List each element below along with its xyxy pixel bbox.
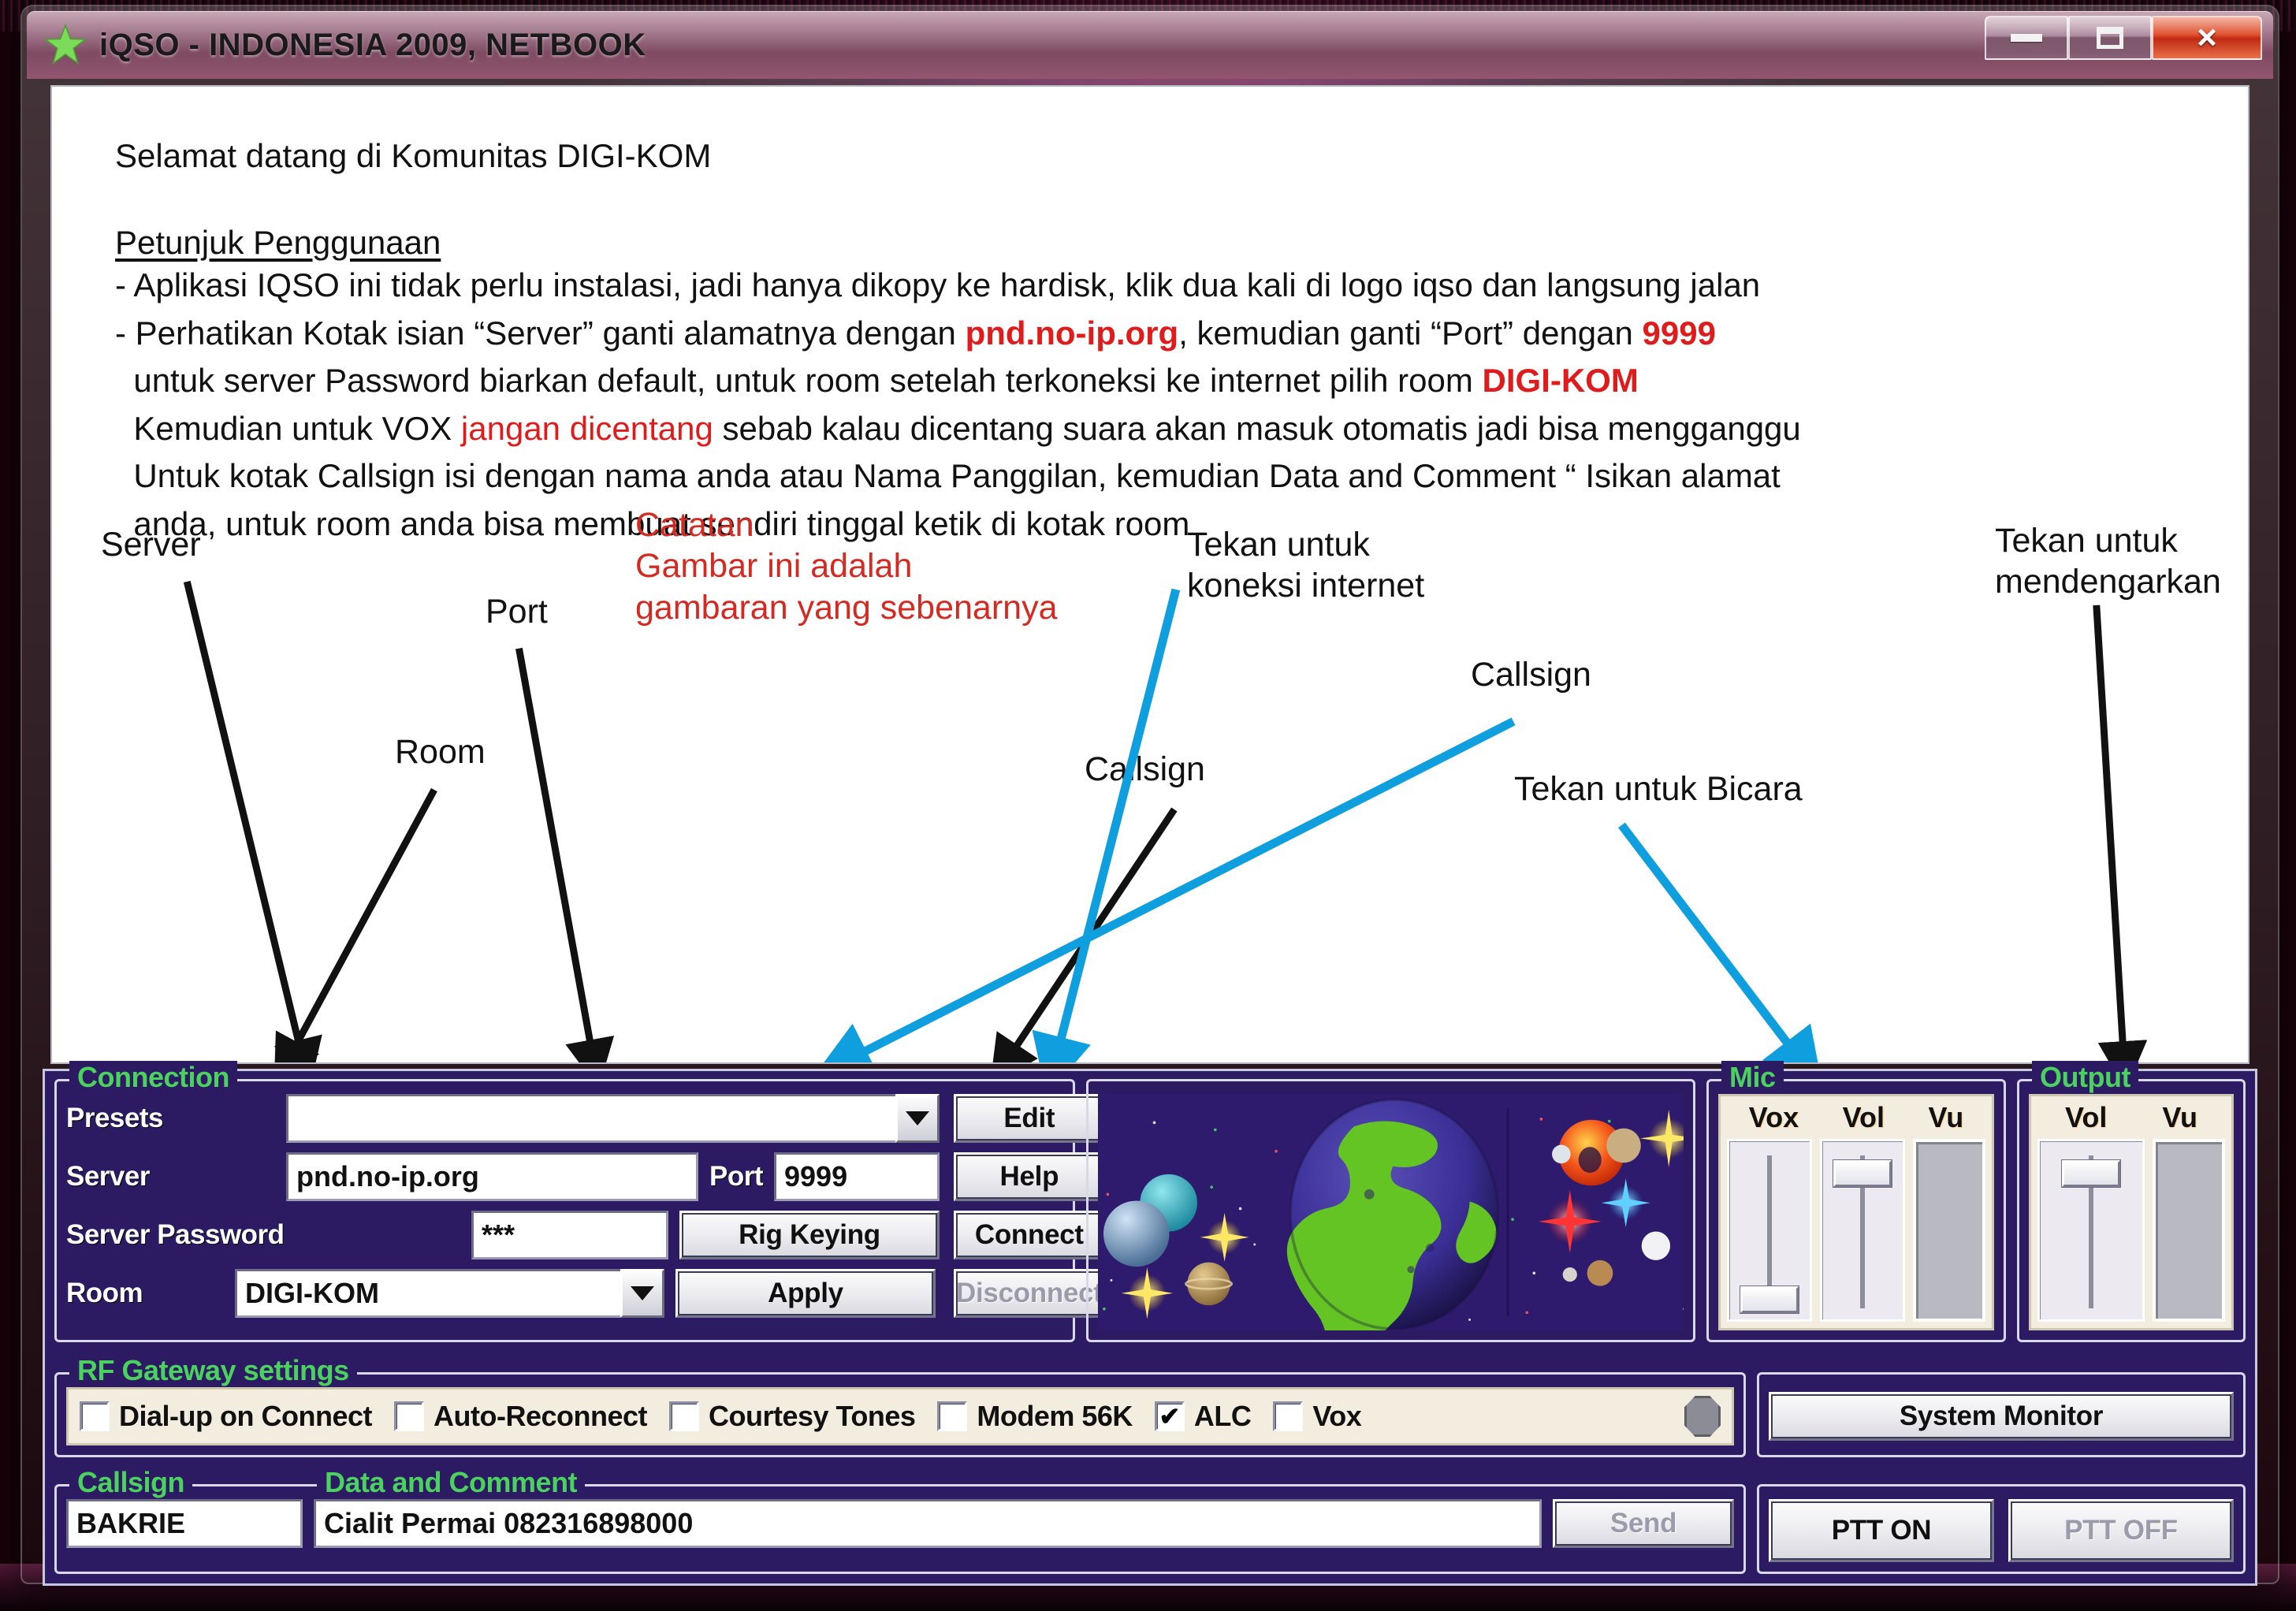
- rf-gateway-checkbar: Dial-up on Connect Auto-Reconnect Courte…: [66, 1387, 1734, 1445]
- app-window: iQSO - INDONESIA 2009, NETBOOK × Selamat…: [22, 6, 2278, 1583]
- close-icon: ×: [2197, 20, 2217, 55]
- bottom-row: Callsign Data and Comment BAKRIE Cialit …: [54, 1484, 2246, 1574]
- arrow-ptt-on: [1621, 825, 1802, 1062]
- edit-button[interactable]: Edit: [954, 1094, 1105, 1143]
- annotation-ptt-off: Tekan untuk mendengarkan: [1995, 520, 2221, 603]
- ptt-off-button[interactable]: PTT OFF: [2008, 1499, 2234, 1562]
- callsign-input[interactable]: BAKRIE: [66, 1499, 303, 1548]
- line2-port-highlight: 9999: [1643, 314, 1716, 352]
- mic-vox-slider[interactable]: [1727, 1139, 1812, 1322]
- checkbox-label: Vox: [1312, 1400, 1361, 1433]
- rig-keying-button[interactable]: Rig Keying: [679, 1211, 940, 1259]
- checkbox-label: Courtesy Tones: [709, 1400, 915, 1433]
- output-vol-slider[interactable]: [2037, 1139, 2145, 1322]
- output-vol-label: Vol: [2065, 1101, 2107, 1134]
- window-controls: ×: [1985, 16, 2262, 61]
- space-scene-svg: [1098, 1094, 1684, 1330]
- maximize-button[interactable]: [2068, 16, 2152, 60]
- presets-label: Presets: [66, 1103, 275, 1134]
- data-comment-input[interactable]: Cialit Permai 082316898000: [314, 1499, 1542, 1548]
- send-button[interactable]: Send: [1553, 1499, 1734, 1548]
- instruction-line-1: - Aplikasi IQSO ini tidak perlu instalas…: [115, 262, 2164, 309]
- rf-gateway-row: RF Gateway settings Dial-up on Connect A…: [54, 1372, 2246, 1457]
- checkbox-label: ALC: [1194, 1400, 1252, 1433]
- instructions-heading: Petunjuk Penggunaan: [115, 224, 2164, 262]
- output-vu-label: Vu: [2162, 1101, 2197, 1134]
- arrow-room: [288, 790, 434, 1061]
- chevron-down-icon[interactable]: [895, 1094, 940, 1143]
- mic-group: Mic Vox Vol Vu: [1706, 1079, 2006, 1342]
- annotation-port: Port: [486, 591, 548, 632]
- mic-vox-slider-thumb[interactable]: [1740, 1286, 1799, 1313]
- note-line-2: Gambar ini adalah: [635, 547, 912, 585]
- chevron-down-icon[interactable]: [620, 1269, 664, 1318]
- title-bar[interactable]: iQSO - INDONESIA 2009, NETBOOK ×: [27, 11, 2273, 79]
- mic-vu-label: Vu: [1929, 1101, 1964, 1134]
- instruction-line-2: - Perhatikan Kotak isian “Server” ganti …: [115, 310, 2164, 357]
- annotation-note: CatatanGambar ini adalahgambaran yang se…: [635, 504, 1057, 628]
- arrow-port: [519, 649, 594, 1061]
- minimize-button[interactable]: [1985, 16, 2068, 60]
- annotation-callsign-black: Callsign: [1085, 749, 1205, 790]
- callsign-group-title: Callsign: [69, 1466, 192, 1499]
- rf-gateway-group: RF Gateway settings Dial-up on Connect A…: [54, 1372, 1746, 1457]
- checkbox-label: Dial-up on Connect: [119, 1400, 372, 1433]
- line2-part-a: - Perhatikan Kotak isian “Server” ganti …: [115, 314, 966, 352]
- room-label: Room: [66, 1278, 224, 1309]
- server-password-input[interactable]: ***: [471, 1211, 668, 1259]
- presets-combobox[interactable]: [286, 1094, 940, 1143]
- connection-group-title: Connection: [69, 1061, 237, 1094]
- checkbox-vox[interactable]: Vox: [1273, 1400, 1361, 1433]
- checkbox-box[interactable]: [669, 1401, 699, 1431]
- instructions-block: Selamat datang di Komunitas DIGI-KOM Pet…: [115, 132, 2164, 548]
- server-password-label: Server Password: [66, 1219, 460, 1251]
- annotation-ptt-on: Tekan untuk Bicara: [1514, 768, 1803, 809]
- output-vu-meter: [2153, 1139, 2225, 1322]
- rf-gateway-group-title: RF Gateway settings: [69, 1354, 357, 1387]
- arrow-ptt-off: [2097, 605, 2124, 1062]
- help-button[interactable]: Help: [954, 1152, 1105, 1201]
- callsign-data-group: Callsign Data and Comment BAKRIE Cialit …: [54, 1484, 1746, 1574]
- room-combobox[interactable]: DIGI-KOM: [235, 1269, 664, 1318]
- checkbox-label: Modem 56K: [977, 1400, 1133, 1433]
- instruction-line-3: untuk server Password biarkan default, u…: [115, 357, 2164, 404]
- ptt-on-button[interactable]: PTT ON: [1769, 1499, 1994, 1562]
- checkbox-box[interactable]: [394, 1401, 424, 1431]
- instruction-line-6: anda, untuk room anda bisa membuat sendi…: [115, 500, 2164, 548]
- line3-part-a: untuk server Password biarkan default, u…: [115, 362, 1483, 399]
- arrow-server: [187, 582, 303, 1061]
- control-panel: Connection Presets Server pnd.no-ip: [43, 1069, 2257, 1586]
- arrow-callsign-black: [1006, 809, 1174, 1062]
- disconnect-button[interactable]: Disconnect: [954, 1269, 1105, 1318]
- ptt-group: PTT ON PTT OFF: [1757, 1484, 2246, 1574]
- annotation-room: Room: [395, 731, 486, 772]
- mic-vox-label: Vox: [1749, 1101, 1799, 1134]
- note-line-1: Catatan: [635, 506, 754, 544]
- system-monitor-group: System Monitor: [1757, 1372, 2246, 1457]
- line2-server-highlight: pnd.no-ip.org: [966, 314, 1179, 352]
- connect-button[interactable]: Connect: [954, 1211, 1105, 1259]
- checkbox-dialup-on-connect[interactable]: Dial-up on Connect: [80, 1400, 372, 1433]
- server-input[interactable]: pnd.no-ip.org: [286, 1152, 698, 1201]
- server-label: Server: [66, 1161, 275, 1192]
- checkbox-courtesy-tones[interactable]: Courtesy Tones: [669, 1400, 915, 1433]
- welcome-line: Selamat datang di Komunitas DIGI-KOM: [115, 132, 2164, 180]
- close-button[interactable]: ×: [2152, 16, 2262, 60]
- presets-value[interactable]: [286, 1094, 898, 1143]
- instruction-line-5: Untuk kotak Callsign isi dengan nama and…: [115, 452, 2164, 500]
- checkbox-alc[interactable]: ✔ ALC: [1155, 1400, 1252, 1433]
- instruction-line-4: Kemudian untuk VOX jangan dicentang seba…: [115, 405, 2164, 452]
- output-group: Output Vol Vu: [2017, 1079, 2246, 1342]
- space-scene-image: [1098, 1094, 1684, 1330]
- checkbox-modem-56k[interactable]: Modem 56K: [937, 1400, 1133, 1433]
- maximize-icon: [2097, 27, 2123, 49]
- note-line-3: gambaran yang sebenarnya: [635, 589, 1057, 627]
- checkbox-box-checked[interactable]: ✔: [1155, 1401, 1185, 1431]
- annotation-connect: Tekan untuk koneksi internet: [1187, 524, 1424, 607]
- annotation-server: Server: [101, 524, 201, 565]
- connection-group: Connection Presets Server pnd.no-ip: [54, 1079, 1075, 1342]
- line4-part-b: sebab kalau dicentang suara akan masuk o…: [713, 410, 1801, 447]
- checkbox-box[interactable]: [80, 1401, 110, 1431]
- room-value[interactable]: DIGI-KOM: [235, 1269, 623, 1318]
- line4-vox-highlight: jangan dicentang: [461, 410, 713, 447]
- mic-group-title: Mic: [1721, 1061, 1784, 1094]
- system-monitor-button[interactable]: System Monitor: [1769, 1392, 2234, 1441]
- port-label: Port: [709, 1161, 763, 1192]
- panel-top-row: Connection Presets Server pnd.no-ip: [54, 1079, 2246, 1342]
- port-input[interactable]: 9999: [774, 1152, 940, 1201]
- minimize-icon: [2011, 34, 2042, 42]
- arrow-connect: [1055, 590, 1176, 1062]
- checkbox-label: Auto-Reconnect: [434, 1400, 647, 1433]
- apply-button[interactable]: Apply: [675, 1269, 936, 1318]
- output-group-title: Output: [2032, 1061, 2138, 1094]
- star-icon: [44, 24, 87, 66]
- line2-part-b: , kemudian ganti “Port” dengan: [1178, 314, 1642, 352]
- mic-vol-slider[interactable]: [1820, 1139, 1905, 1322]
- status-led-indicator: [1684, 1396, 1721, 1437]
- data-comment-group-title: Data and Comment: [317, 1466, 585, 1499]
- annotation-callsign-blue: Callsign: [1471, 654, 1591, 695]
- mic-vol-label: Vol: [1843, 1101, 1885, 1134]
- checkbox-box[interactable]: [937, 1401, 967, 1431]
- mic-vol-slider-thumb[interactable]: [1833, 1160, 1892, 1187]
- mic-vu-meter: [1913, 1139, 1985, 1322]
- output-vol-slider-thumb[interactable]: [2062, 1160, 2120, 1187]
- document-canvas: Selamat datang di Komunitas DIGI-KOM Pet…: [50, 85, 2249, 1064]
- space-image-group: [1086, 1079, 1695, 1342]
- window-title: iQSO - INDONESIA 2009, NETBOOK: [99, 28, 646, 63]
- line3-room-highlight: DIGI-KOM: [1483, 362, 1639, 399]
- checkbox-auto-reconnect[interactable]: Auto-Reconnect: [394, 1400, 647, 1433]
- checkbox-box[interactable]: [1273, 1401, 1303, 1431]
- line4-part-a: Kemudian untuk VOX: [115, 410, 461, 447]
